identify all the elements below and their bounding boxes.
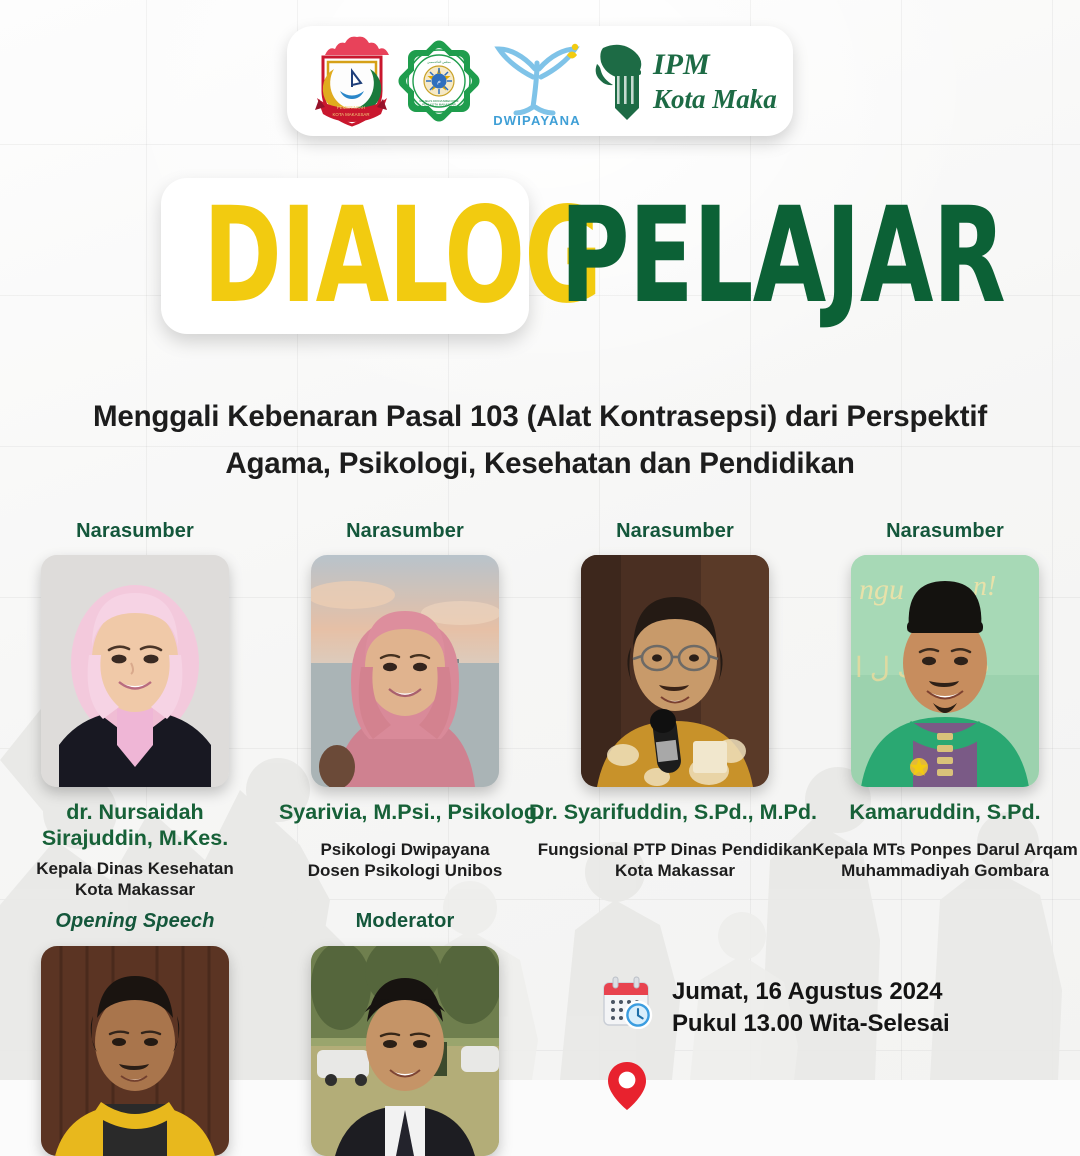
calendar-clock-icon bbox=[600, 975, 654, 1029]
title-word-dialog: DIALOG bbox=[203, 180, 601, 332]
moderator-card: Moderator bbox=[270, 910, 540, 1156]
speaker-photo-syarifuddin bbox=[581, 555, 769, 787]
location-pin-icon bbox=[600, 1058, 654, 1112]
speaker-name: dr. Nursaidah Sirajuddin, M.Kes. bbox=[20, 799, 250, 851]
speaker-card-1: Narasumber dr. Nursaidah Sir bbox=[0, 520, 270, 900]
speaker-photo-kamaruddin: ngu n! ك ل ا د bbox=[851, 555, 1039, 787]
opening-speech-photo bbox=[41, 946, 229, 1156]
subtitle-line-2: Agama, Psikologi, Kesehatan dan Pendidik… bbox=[50, 440, 1030, 487]
speaker-role-tag: Narasumber bbox=[346, 520, 464, 543]
title-word-pelajar: PELAJAR bbox=[560, 180, 1005, 332]
svg-text:PEMERINTAH: PEMERINTAH bbox=[337, 105, 365, 110]
svg-text:مجلس الدكدسمين: مجلس الدكدسمين bbox=[427, 60, 451, 64]
logo-ipm-kota-makassar: IPM Kota Makassar bbox=[591, 38, 777, 124]
speaker-card-3: Narasumber bbox=[540, 520, 810, 900]
opening-speech-card: Opening Speech bbox=[0, 910, 270, 1156]
speaker-photo-nursaidah bbox=[41, 555, 229, 787]
speakers-row: Narasumber dr. Nursaidah Sir bbox=[0, 520, 1080, 900]
affiliation-line-2: Dosen Psikologi Unibos bbox=[308, 860, 503, 881]
speaker-affiliation: Kepala MTs Ponpes Darul Arqam Muhammadiy… bbox=[812, 839, 1077, 881]
affiliation-line-1: Fungsional PTP Dinas Pendidikan bbox=[538, 839, 813, 860]
speaker-affiliation: Kepala Dinas Kesehatan Kota Makassar bbox=[36, 858, 233, 900]
logo-dwipayana: DWIPAYANA bbox=[483, 33, 591, 129]
affiliation-line-2: Kota Makassar bbox=[36, 879, 233, 900]
svg-text:IPM: IPM bbox=[652, 48, 711, 81]
affiliation-line-1: Kepala MTs Ponpes Darul Arqam bbox=[812, 839, 1077, 860]
speaker-name: Syarivia, M.Psi., Psikolog. bbox=[279, 799, 543, 825]
event-datetime-row: Jumat, 16 Agustus 2024 Pukul 13.00 Wita-… bbox=[600, 975, 1040, 1040]
affiliation-line-2: Muhammadiyah Gombara bbox=[812, 860, 1077, 881]
event-datetime-text: Jumat, 16 Agustus 2024 Pukul 13.00 Wita-… bbox=[672, 975, 950, 1040]
affiliation-line-1: Kepala Dinas Kesehatan bbox=[36, 858, 233, 879]
event-location-row bbox=[600, 1058, 1040, 1112]
logo-pemkot-makassar: PEMERINTAH KOTA MAKASSAR bbox=[307, 35, 395, 127]
svg-text:ngu: ngu bbox=[859, 573, 904, 606]
speaker-photo-syarivia bbox=[311, 555, 499, 787]
logo-muhammadiyah-makassar: م مجلس الدكدسمين MAJELIS DIKDASMEN PNF P… bbox=[395, 37, 483, 125]
affiliation-line-1: Psikologi Dwipayana bbox=[308, 839, 503, 860]
speaker-role-tag: Narasumber bbox=[616, 520, 734, 543]
moderator-photo bbox=[311, 946, 499, 1156]
moderator-role-tag: Moderator bbox=[356, 910, 455, 933]
speaker-card-4: Narasumber ngu n! ك ل ا د bbox=[810, 520, 1080, 900]
speaker-card-2: Narasumber bbox=[270, 520, 540, 900]
speaker-affiliation: Psikologi Dwipayana Dosen Psikologi Unib… bbox=[308, 839, 503, 881]
speaker-role-tag: Narasumber bbox=[76, 520, 194, 543]
speaker-name: Dr. Syarifuddin, S.Pd., M.Pd. bbox=[529, 799, 817, 825]
opening-speech-role-tag: Opening Speech bbox=[55, 910, 214, 933]
svg-text:DWIPAYANA: DWIPAYANA bbox=[493, 113, 581, 128]
speaker-affiliation: Fungsional PTP Dinas Pendidikan Kota Mak… bbox=[538, 839, 813, 881]
svg-text:Kota Makassar: Kota Makassar bbox=[652, 84, 777, 114]
event-time: Pukul 13.00 Wita-Selesai bbox=[672, 1008, 950, 1040]
partner-logos-bar: PEMERINTAH KOTA MAKASSAR bbox=[287, 26, 793, 136]
svg-text:م: م bbox=[437, 79, 441, 85]
speaker-name: Kamaruddin, S.Pd. bbox=[849, 799, 1040, 825]
affiliation-line-2: Kota Makassar bbox=[538, 860, 813, 881]
svg-text:PDM KOTA MAKASSAR: PDM KOTA MAKASSAR bbox=[422, 103, 457, 107]
svg-text:KOTA MAKASSAR: KOTA MAKASSAR bbox=[332, 112, 369, 117]
speaker-role-tag: Narasumber bbox=[886, 520, 1004, 543]
poster-subtitle: Menggali Kebenaran Pasal 103 (Alat Kontr… bbox=[50, 393, 1030, 487]
event-info-panel: Jumat, 16 Agustus 2024 Pukul 13.00 Wita-… bbox=[600, 975, 1040, 1130]
poster-title: DIALOG PELAJAR bbox=[0, 178, 1080, 342]
event-date: Jumat, 16 Agustus 2024 bbox=[672, 976, 950, 1008]
subtitle-line-1: Menggali Kebenaran Pasal 103 (Alat Kontr… bbox=[50, 393, 1030, 440]
